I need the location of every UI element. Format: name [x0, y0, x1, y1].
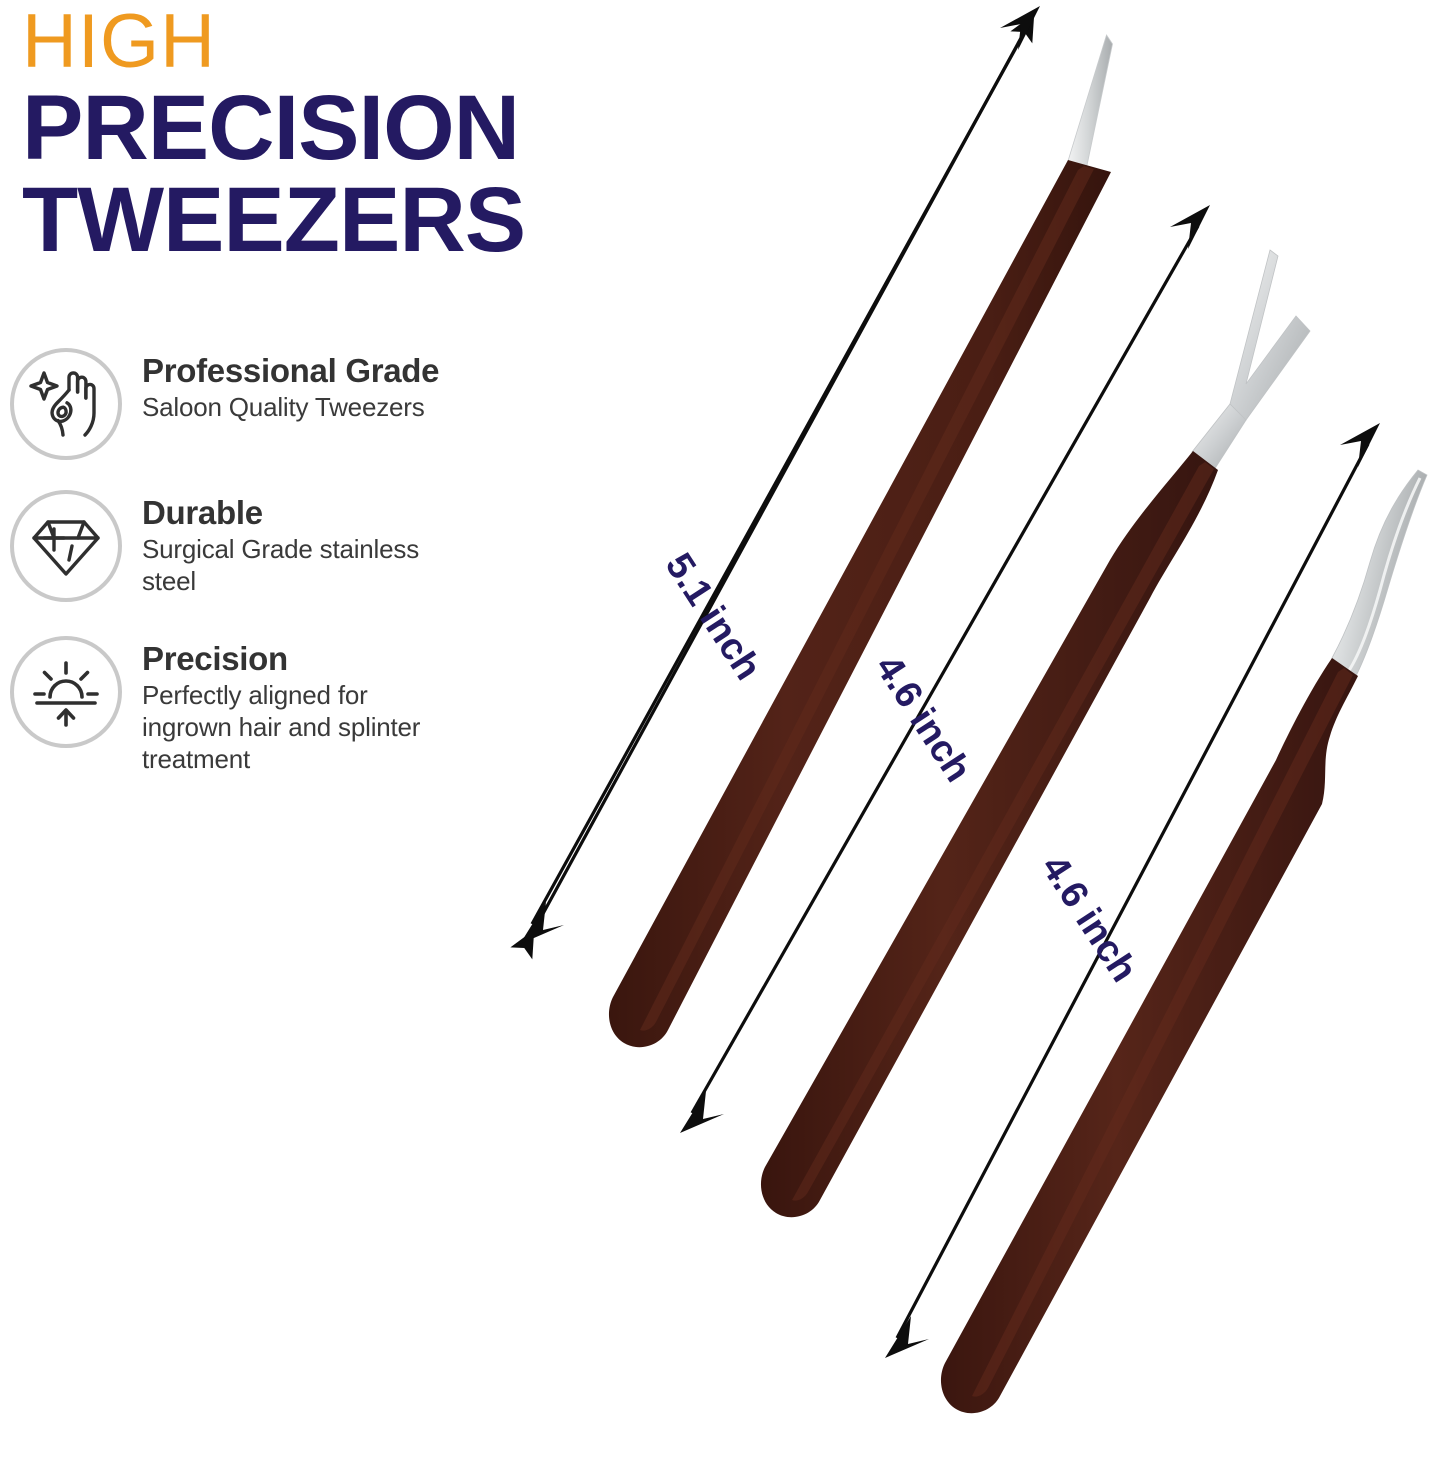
feature-text-block: Precision Perfectly aligned for ingrown …	[142, 636, 442, 775]
feature-list: Professional Grade Saloon Quality Tweeze…	[10, 348, 460, 797]
feature-subtitle: Saloon Quality Tweezers	[142, 391, 439, 423]
feature-title: Professional Grade	[142, 352, 439, 389]
feature-title: Durable	[142, 494, 442, 531]
diamond-gem-icon	[10, 490, 122, 602]
feature-subtitle: Perfectly aligned for ingrown hair and s…	[142, 679, 442, 775]
feature-precision: Precision Perfectly aligned for ingrown …	[10, 636, 460, 775]
ok-hand-sparkle-icon	[10, 348, 122, 460]
feature-title: Precision	[142, 640, 442, 677]
feature-durable: Durable Surgical Grade stainless steel	[10, 490, 460, 602]
sunrise-precision-icon	[10, 636, 122, 748]
feature-text-block: Professional Grade Saloon Quality Tweeze…	[142, 348, 439, 423]
dimension-arrows	[520, 6, 1380, 1358]
curved-tip-tweezer	[941, 470, 1427, 1413]
feature-professional-grade: Professional Grade Saloon Quality Tweeze…	[10, 348, 460, 460]
feature-text-block: Durable Surgical Grade stainless steel	[142, 490, 442, 597]
product-infographic-page: HIGH PRECISION TWEEZERS	[0, 0, 1445, 1476]
feature-subtitle: Surgical Grade stainless steel	[142, 533, 442, 597]
product-illustration: 5.1 inch 4.6 inch 4.6 inch	[470, 0, 1445, 1476]
